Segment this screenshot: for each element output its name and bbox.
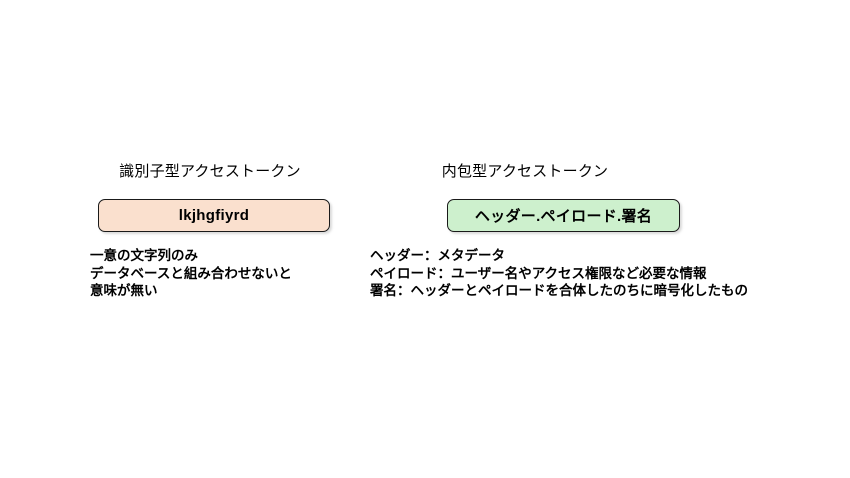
embedded-description-line-1: ヘッダー：メタデータ bbox=[370, 247, 748, 265]
identifier-token-box: lkjhgfiyrd bbox=[98, 199, 330, 232]
embedded-token-column: 内包型アクセストークン bbox=[370, 162, 810, 182]
embedded-token-description: ヘッダー：メタデータ ペイロード：ユーザー名やアクセス権限など必要な情報 署名：… bbox=[370, 247, 748, 300]
embedded-description-line-2: ペイロード：ユーザー名やアクセス権限など必要な情報 bbox=[370, 265, 748, 283]
identifier-token-column: 識別子型アクセストークン bbox=[90, 162, 340, 182]
identifier-description-line-1: 一意の文字列のみ bbox=[90, 247, 292, 265]
identifier-token-heading: 識別子型アクセストークン bbox=[90, 162, 330, 182]
identifier-token-description: 一意の文字列のみ データベースと組み合わせないと 意味が無い bbox=[90, 247, 292, 300]
identifier-description-line-3: 意味が無い bbox=[90, 282, 292, 300]
slide-canvas: 識別子型アクセストークン lkjhgfiyrd 一意の文字列のみ データベースと… bbox=[0, 0, 850, 478]
embedded-token-label: ヘッダー.ペイロード.署名 bbox=[475, 205, 652, 226]
embedded-token-heading: 内包型アクセストークン bbox=[370, 162, 680, 182]
embedded-description-line-3: 署名：ヘッダーとペイロードを合体したのちに暗号化したもの bbox=[370, 282, 748, 300]
embedded-token-box: ヘッダー.ペイロード.署名 bbox=[447, 199, 680, 232]
identifier-description-line-2: データベースと組み合わせないと bbox=[90, 265, 292, 283]
identifier-token-label: lkjhgfiyrd bbox=[179, 207, 250, 224]
